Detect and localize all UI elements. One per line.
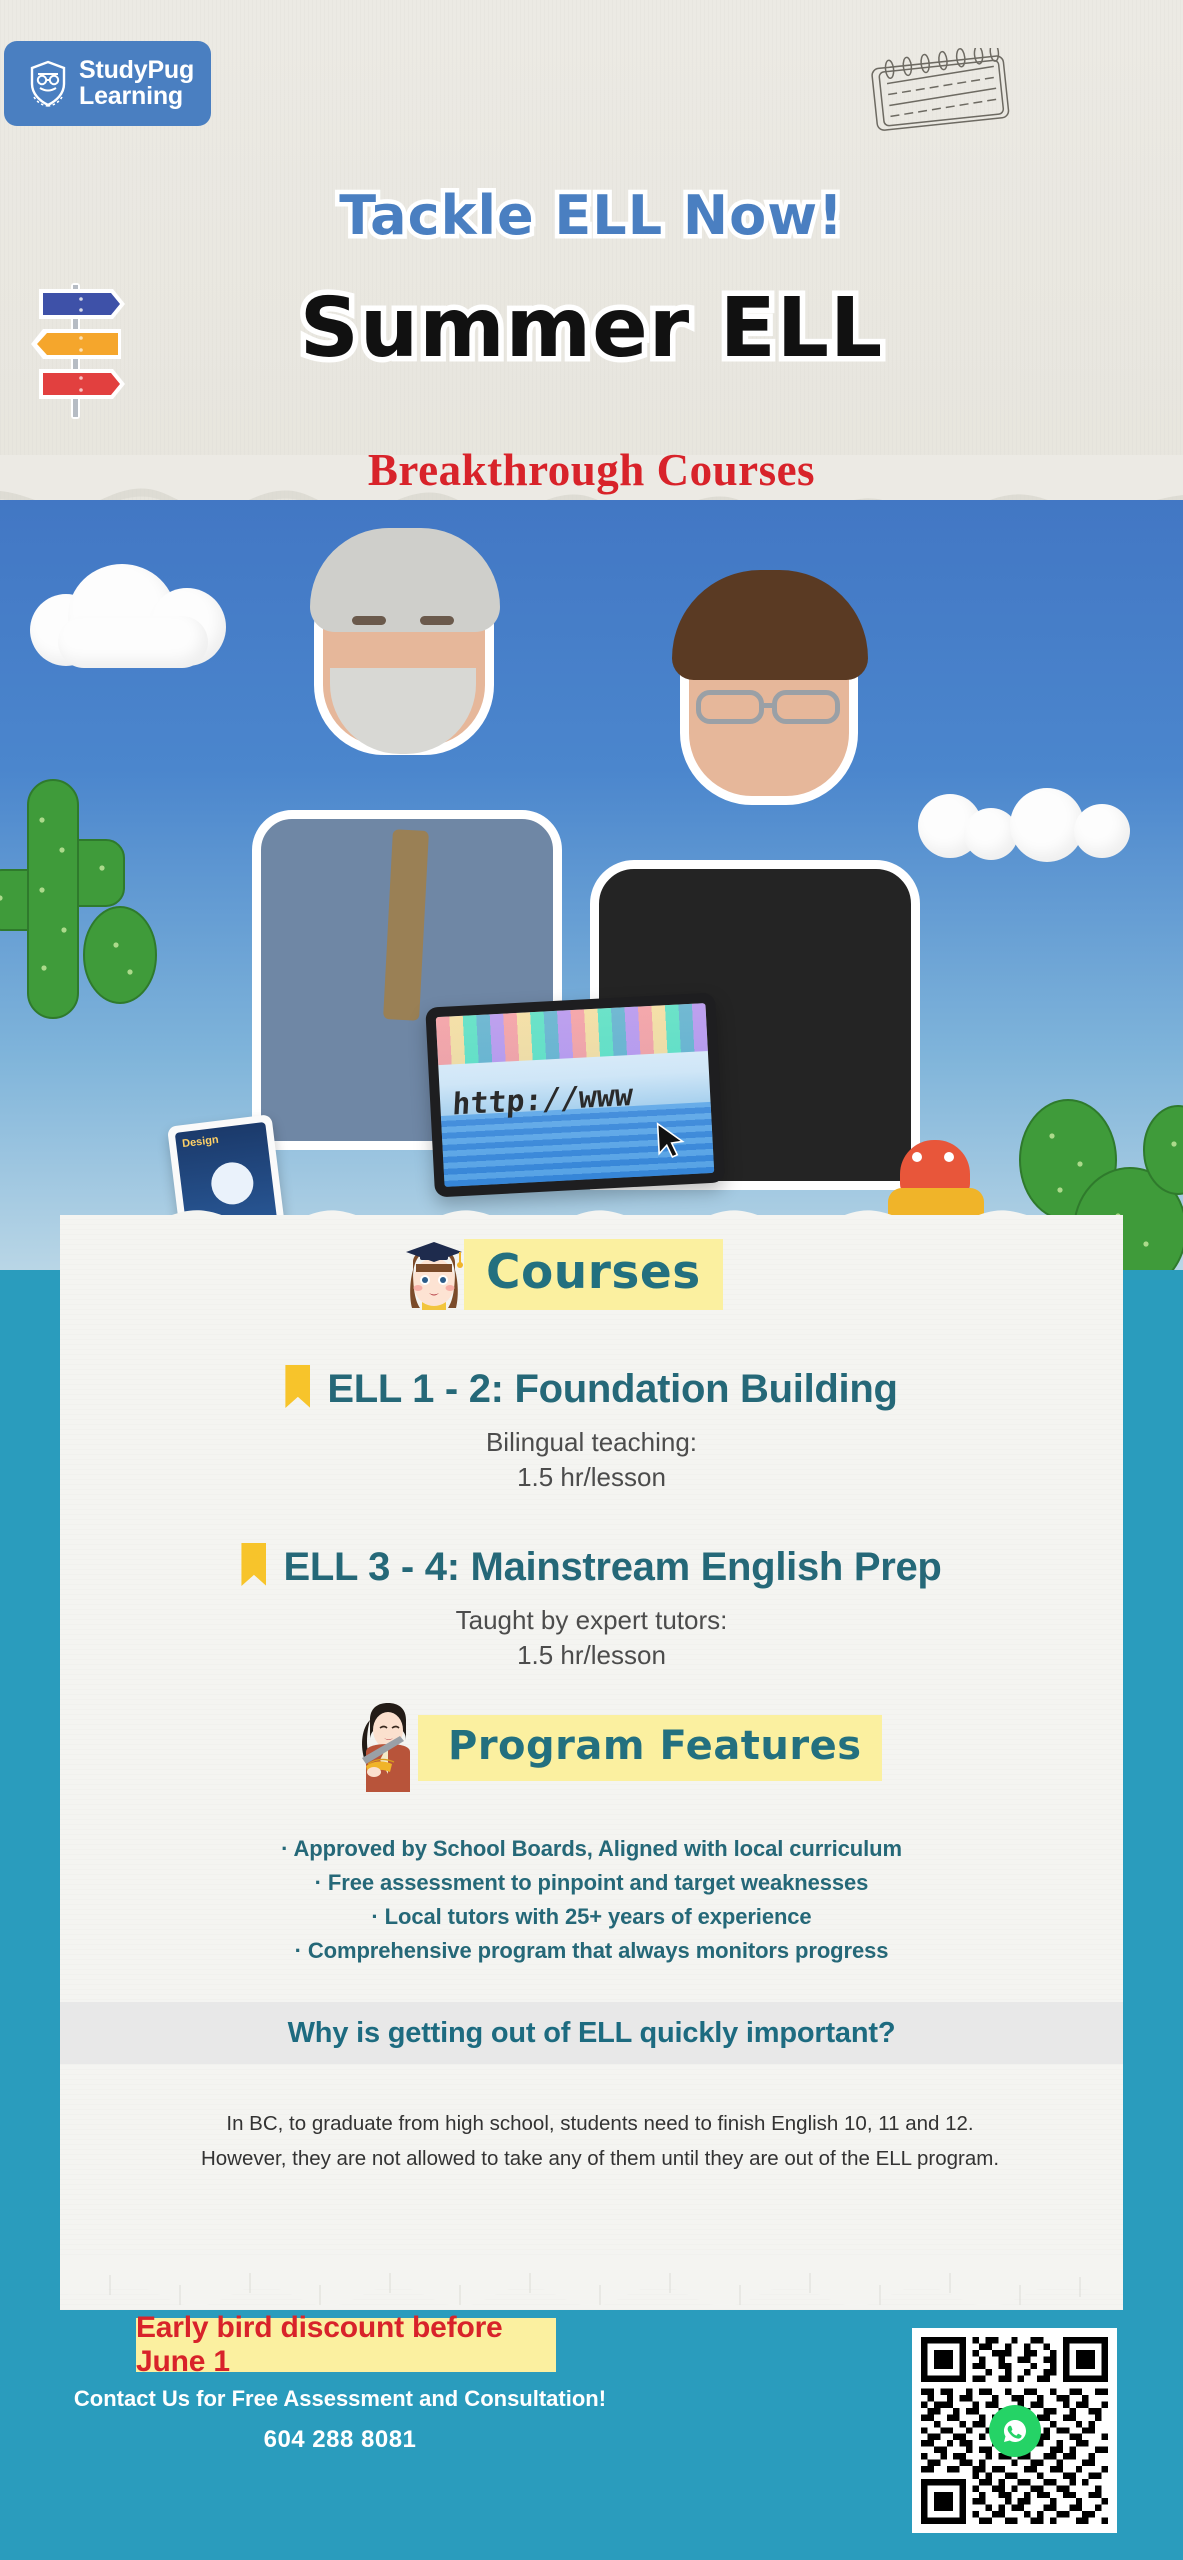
brand-logo-line1: StudyPug — [79, 58, 194, 84]
small-tablet-label: Design — [181, 1134, 219, 1150]
why-section-bar: Why is getting out of ELL quickly import… — [60, 2002, 1123, 2064]
course-title-2: ELL 3 - 4: Mainstream English Prep — [0, 1543, 1183, 1590]
features-section-header: Program Features — [340, 1700, 882, 1796]
courses-section-title: Courses — [464, 1239, 723, 1310]
feature-item: · Local tutors with 25+ years of experie… — [0, 1900, 1183, 1934]
feature-item: · Comprehensive program that always moni… — [0, 1934, 1183, 1968]
course-detail-1: Bilingual teaching: 1.5 hr/lesson — [0, 1425, 1183, 1495]
why-section-title: Why is getting out of ELL quickly import… — [288, 2017, 896, 2050]
why-body-line1: In BC, to graduate from high school, stu… — [120, 2106, 1080, 2141]
tablet-icon: http://www — [425, 993, 725, 1198]
hero-headline: Summer ELL — [0, 281, 1183, 376]
brand-logo-text: StudyPug Learning — [79, 58, 194, 109]
contact-phone-number: 604 288 8081 — [60, 2426, 620, 2454]
course-title-1-text: ELL 1 - 2: Foundation Building — [327, 1367, 897, 1411]
teacher-with-pointer-icon — [340, 1700, 436, 1796]
course-title-2-text: ELL 3 - 4: Mainstream English Prep — [283, 1545, 941, 1589]
brand-logo-line2: Learning — [79, 84, 194, 110]
hero-kicker: Tackle ELL Now! — [0, 184, 1183, 247]
graduate-girl-emoji-icon — [400, 1238, 468, 1310]
course-detail-2: Taught by expert tutors: 1.5 hr/lesson — [0, 1603, 1183, 1673]
early-bird-discount-badge: Early bird discount before June 1 — [136, 2318, 556, 2372]
whatsapp-icon — [989, 2405, 1041, 2457]
courses-section-header: Courses — [400, 1238, 723, 1310]
tablet-screen: http://www — [436, 1003, 715, 1187]
feature-item: · Free assessment to pinpoint and target… — [0, 1866, 1183, 1900]
bookmark-icon — [241, 1543, 266, 1586]
brand-logo-pill[interactable]: StudyPug Learning — [4, 41, 211, 126]
cactus-icon — [0, 740, 160, 1020]
features-list: · Approved by School Boards, Aligned wit… — [0, 1832, 1183, 1968]
course-detail-2-line1: Taught by expert tutors: — [0, 1603, 1183, 1638]
shield-pug-logo-icon — [26, 59, 70, 109]
feature-item: · Approved by School Boards, Aligned wit… — [0, 1832, 1183, 1866]
spiral-notebook-doodle-icon — [866, 48, 1016, 133]
course-detail-1-line2: 1.5 hr/lesson — [0, 1460, 1183, 1495]
bookmark-icon — [285, 1365, 310, 1408]
poster-root: StudyPug Learning — [0, 0, 1183, 2560]
hero-subheadline: Breakthrough Courses — [0, 444, 1183, 496]
features-section-title: Program Features — [418, 1715, 882, 1781]
why-section-body: In BC, to graduate from high school, stu… — [120, 2106, 1080, 2177]
course-detail-1-line1: Bilingual teaching: — [0, 1425, 1183, 1460]
course-detail-2-line2: 1.5 hr/lesson — [0, 1638, 1183, 1673]
cloud-icon — [918, 782, 1143, 870]
early-bird-discount-text: Early bird discount before June 1 — [136, 2311, 556, 2379]
contact-cta-text: Contact Us for Free Assessment and Consu… — [60, 2386, 620, 2412]
course-title-1: ELL 1 - 2: Foundation Building — [0, 1365, 1183, 1412]
whatsapp-qr-code[interactable] — [912, 2328, 1117, 2533]
why-body-line2: However, they are not allowed to take an… — [120, 2141, 1080, 2176]
